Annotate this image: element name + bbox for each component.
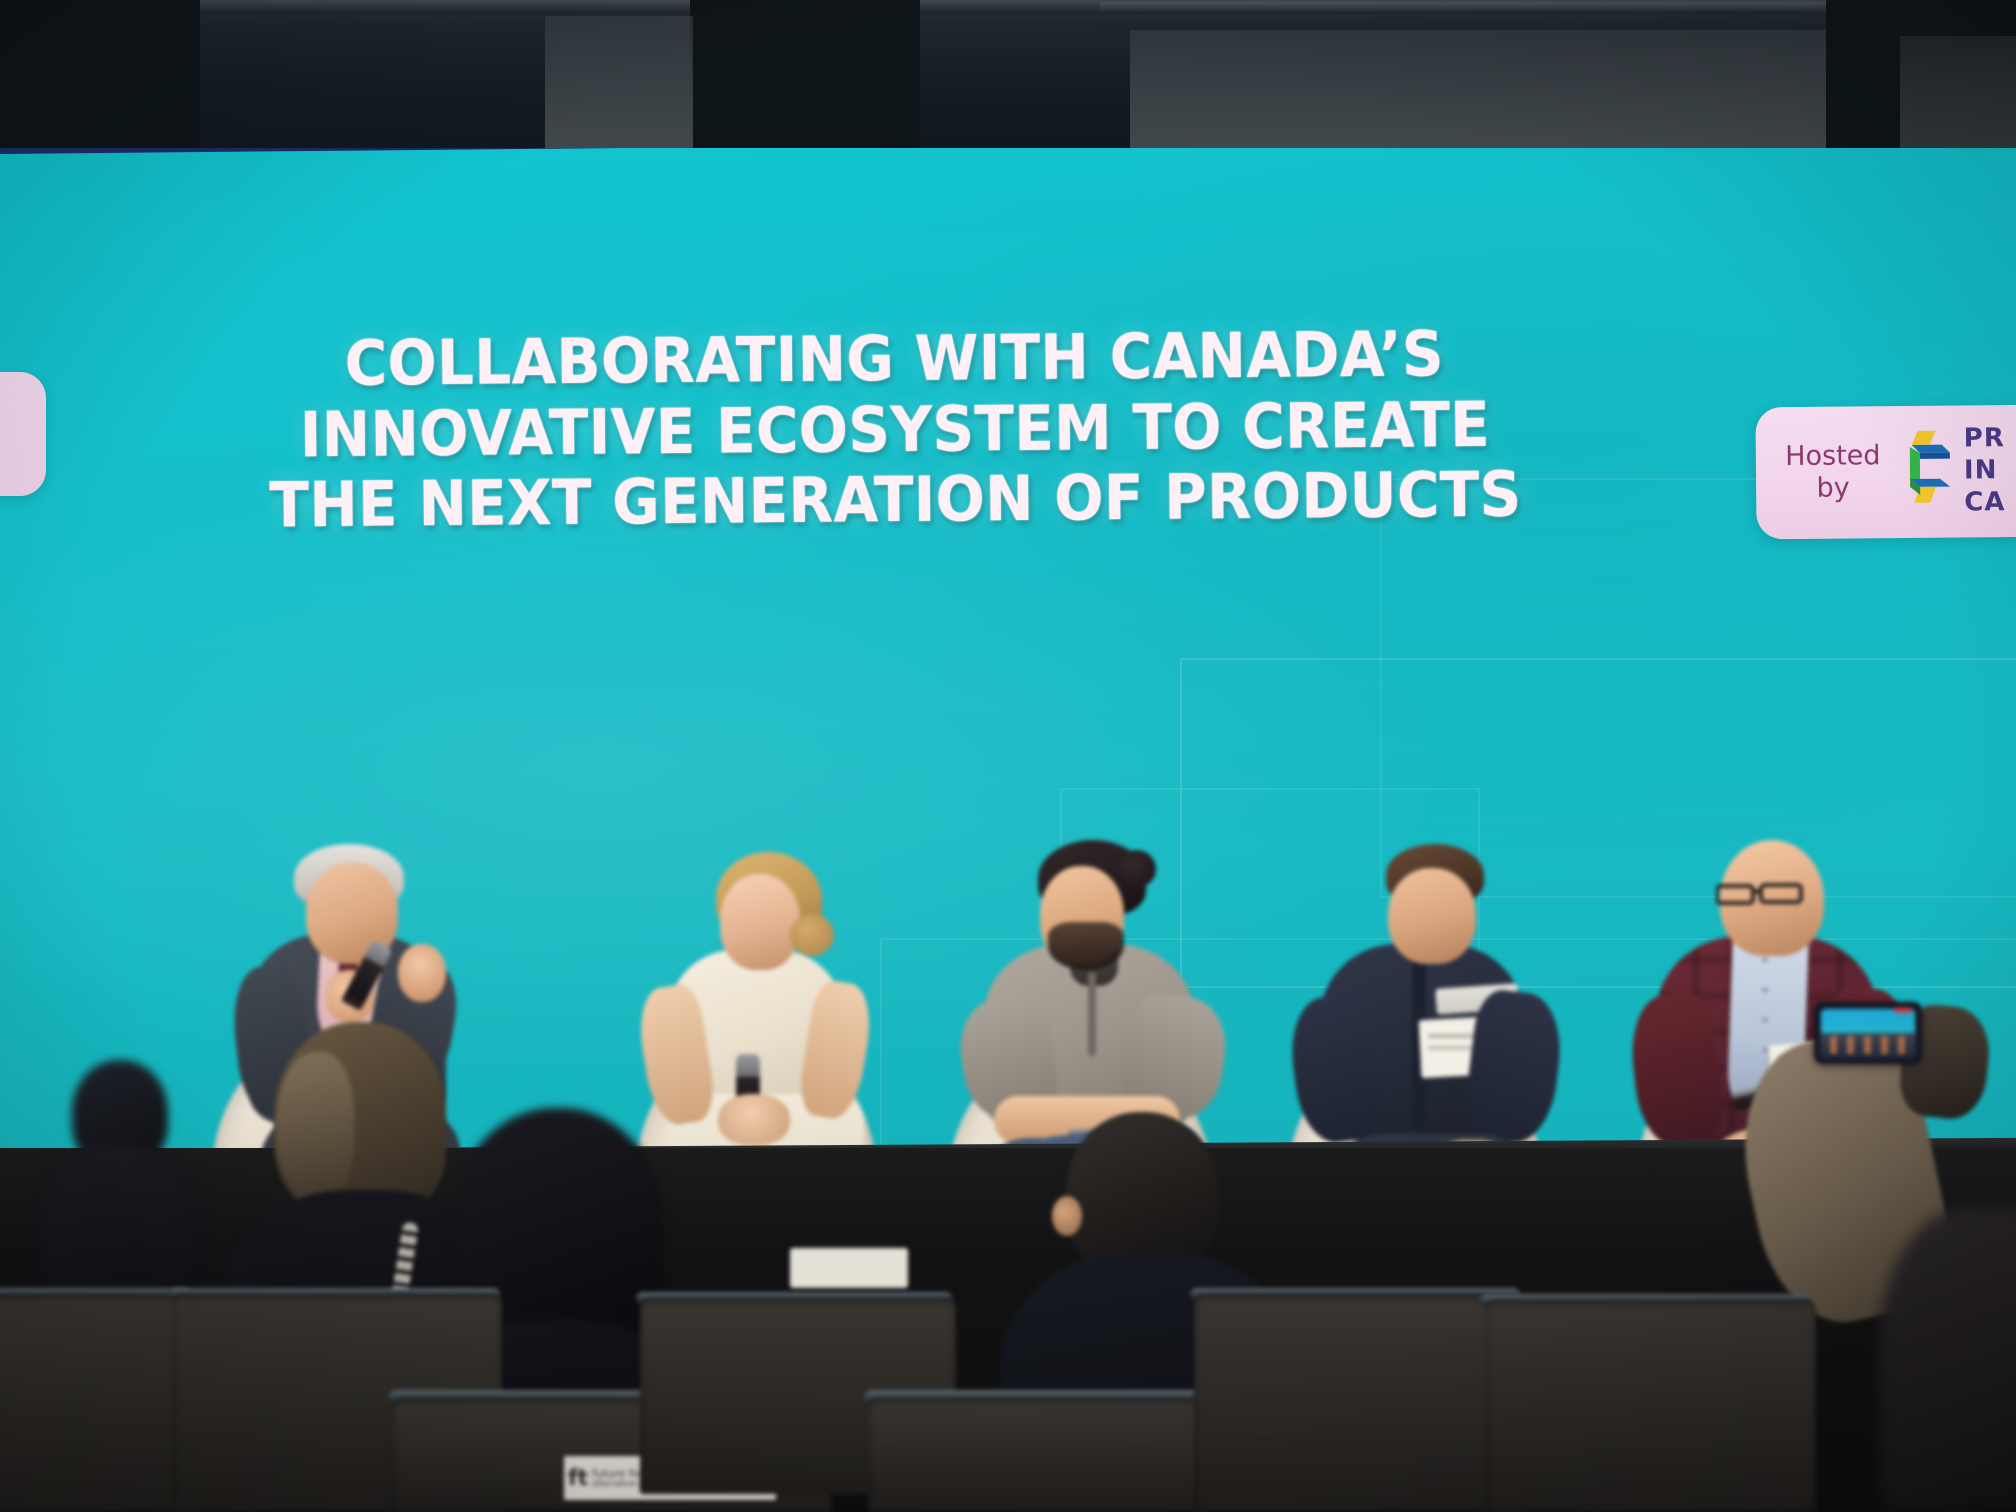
panelist-bearded-man-grey-fleece — [960, 848, 1260, 1153]
chair-sticker-mark: ft — [568, 1466, 588, 1491]
panelist-beard — [1048, 922, 1124, 970]
hosted-by-line-2: by — [1774, 472, 1892, 505]
host-org-line-3: CA — [1964, 487, 2005, 519]
panelist-man-navy-shirt-badge — [1300, 848, 1590, 1153]
auditorium-chair — [1486, 1300, 1816, 1512]
stage-edge-name-card — [790, 1248, 908, 1288]
audience-person-right-edge — [1880, 1208, 2016, 1512]
panelist-hair-bun — [1116, 850, 1156, 888]
panelist-badge-line-2 — [1428, 1046, 1478, 1050]
auditorium-chair — [0, 1294, 194, 1512]
panelist-glasses-icon — [1716, 882, 1808, 906]
recording-indicator-icon — [1894, 1008, 1912, 1013]
slide-title-line-3: THE NEXT GENERATION OF PRODUCTS — [230, 460, 1560, 542]
panelist-head — [720, 874, 800, 970]
hosted-by-badge: Hosted by PR IN CA — [1755, 405, 2016, 540]
hosted-by-label: Hosted by — [1774, 440, 1893, 505]
panelist-hands — [718, 1094, 790, 1146]
stage-card-text — [790, 1248, 908, 1260]
audience-hair-highlight — [276, 1052, 354, 1202]
smartphone-recording[interactable] — [1814, 1002, 1922, 1064]
panelist-head — [1388, 868, 1476, 964]
host-org-name: PR IN CA — [1964, 424, 2006, 520]
phone-screen-panelists — [1830, 1036, 1910, 1054]
audience-short-haired-person-left — [40, 1060, 200, 1320]
panelist-hair-bun — [790, 914, 834, 956]
auditorium-chair — [1194, 1294, 1524, 1512]
presentation-led-screen: COLLABORATING WITH CANADA’S INNOVATIVE E… — [0, 148, 2016, 1153]
left-edge-partial-badge: s — [0, 372, 46, 496]
auditorium-chair-front — [868, 1398, 1208, 1512]
slide-title: COLLABORATING WITH CANADA’S INNOVATIVE E… — [179, 318, 1611, 542]
hosted-by-line-1: Hosted — [1774, 440, 1892, 473]
conference-panel-photo: COLLABORATING WITH CANADA’S INNOVATIVE E… — [0, 0, 2016, 1512]
panelist-shirt-buttons — [1762, 958, 1768, 1086]
host-org-line-1: PR — [1964, 424, 2005, 456]
ceiling-backdrop — [0, 0, 2016, 152]
panelist-right-hand — [398, 944, 446, 1002]
audience-ear — [1052, 1196, 1082, 1236]
host-org-line-2: IN — [1964, 455, 2005, 487]
prototypes-innovation-canada-logo — [1896, 429, 1955, 516]
panelist-zipper — [1088, 972, 1096, 1056]
